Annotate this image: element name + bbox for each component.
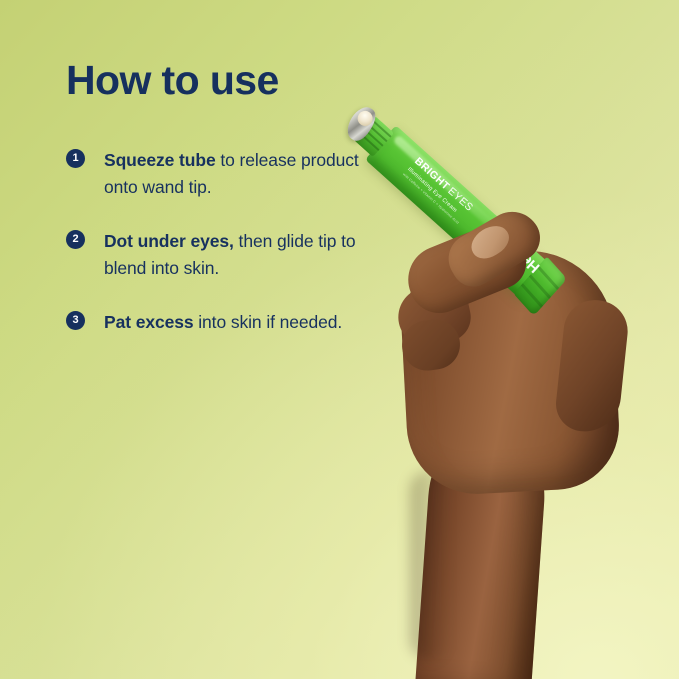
step-emphasis: Squeeze tube <box>104 150 216 170</box>
step-emphasis: Dot under eyes, <box>104 231 234 251</box>
list-item: 2 Dot under eyes, then glide tip to blen… <box>66 228 396 281</box>
product-fine-print: with Caffeine + Vitamin C + Hyaluronic A… <box>402 172 516 275</box>
instructions-panel: How to use 1 Squeeze tube to release pro… <box>66 60 396 336</box>
palm <box>398 247 622 498</box>
thumb <box>439 201 548 294</box>
page-title: How to use <box>66 60 396 101</box>
tube-fold <box>521 283 543 308</box>
tube-fold <box>537 265 559 290</box>
list-item: 3 Pat excess into skin if needed. <box>66 309 396 336</box>
product-label: BRIGHTEYES Illuminating Eye Cream with C… <box>402 156 531 276</box>
step-number-badge: 2 <box>66 230 85 249</box>
product-name: BRIGHTEYES <box>412 156 530 264</box>
tube-fold <box>529 274 551 299</box>
list-item: 1 Squeeze tube to release product onto w… <box>66 147 396 200</box>
brand-logo: Hero <box>507 241 543 276</box>
pinky-finger <box>553 297 630 435</box>
product-name-light: EYES <box>445 185 475 214</box>
product-descriptor: Illuminating Eye Cream <box>406 166 521 271</box>
tube-highlight <box>393 134 546 273</box>
thumbnail <box>466 220 515 265</box>
step-text: into skin if needed. <box>194 312 343 332</box>
steps-list: 1 Squeeze tube to release product onto w… <box>66 147 396 336</box>
knuckles <box>393 279 475 351</box>
product-name-bold: BRIGHT <box>412 155 452 192</box>
middle-finger <box>399 316 463 374</box>
forearm <box>415 426 549 679</box>
index-finger <box>398 216 534 322</box>
step-emphasis: Pat excess <box>104 312 194 332</box>
wrist-shadow <box>410 470 450 660</box>
how-to-use-graphic: How to use 1 Squeeze tube to release pro… <box>0 0 679 679</box>
step-number-badge: 3 <box>66 311 85 330</box>
tube-crimped-end <box>514 256 568 316</box>
step-number-badge: 1 <box>66 149 85 168</box>
